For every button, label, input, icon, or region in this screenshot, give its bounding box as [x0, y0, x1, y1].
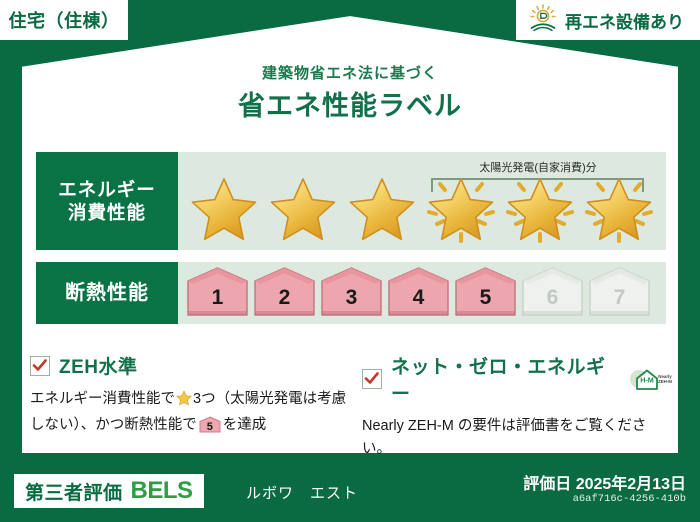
bels-en-label: BELS [131, 477, 193, 505]
bels-certification-badge: 第三者評価 BELS [14, 474, 204, 508]
zeh-desc-part1: エネルギー消費性能で [30, 391, 175, 407]
insulation-badge-inline: 5 [199, 416, 221, 433]
insulation-level-4: 4 [387, 266, 450, 318]
energy-performance-row: エネルギー 消費性能 太陽光発電(自家消費)分 [36, 152, 666, 250]
footer: 第三者評価 BELS ルボワ エスト 評価日 2025年2月13日 a6af71… [0, 460, 700, 522]
insulation-level-2: 2 [253, 266, 316, 318]
svg-text:H-M: H-M [640, 376, 654, 385]
checkbox-icon-netzero [362, 369, 382, 389]
checkbox-icon-zeh [30, 356, 50, 376]
insulation-level-value-4: 4 [387, 286, 450, 310]
energy-star-2 [263, 170, 342, 248]
zeh-m-logo-icon: H-M Nearly ZEH-M [628, 366, 674, 392]
zeh-standard-description: エネルギー消費性能で3つ（太陽光発電は考慮しない）、かつ断熱性能で5を達成 [30, 388, 350, 438]
solar-sun-icon [528, 4, 558, 37]
net-zero-energy-description: Nearly ZEH-M の要件は評価書をご覧ください。 [362, 415, 674, 462]
insulation-performance-body: 1234567 [178, 262, 666, 324]
net-zero-energy-title: ネット・ゼロ・エネルギー [391, 352, 613, 406]
insulation-performance-label: 断熱性能 [36, 262, 178, 324]
zeh-standard-block: ZEH水準 エネルギー消費性能で3つ（太陽光発電は考慮しない）、かつ断熱性能で5… [30, 352, 350, 438]
insulation-performance-row: 断熱性能 1234567 [36, 262, 666, 324]
energy-star-4 [421, 170, 500, 248]
energy-performance-label: エネルギー 消費性能 [36, 152, 178, 250]
insulation-level-3: 3 [320, 266, 383, 318]
insulation-label-text: 断熱性能 [65, 281, 149, 306]
insulation-level-value-7: 7 [588, 286, 651, 310]
svg-text:ZEH-M: ZEH-M [658, 379, 672, 384]
building-type-label: 住宅（住棟） [9, 7, 120, 33]
energy-star-3 [342, 170, 421, 248]
building-type-badge: 住宅（住棟） [0, 0, 128, 40]
insulation-level-5: 5 [454, 266, 517, 318]
zeh-standard-title: ZEH水準 [59, 352, 138, 379]
energy-star-5 [500, 170, 579, 248]
star-icon-inline [176, 390, 192, 414]
insulation-level-6: 6 [521, 266, 584, 318]
bels-jp-label: 第三者評価 [25, 478, 123, 505]
energy-star-1 [184, 170, 263, 248]
zeh-desc-part3: を達成 [223, 417, 267, 433]
insulation-level-7: 7 [588, 266, 651, 318]
renewable-equipment-badge: 再エネ設備あり [516, 0, 700, 40]
evaluation-date: 評価日 2025年2月13日 [523, 470, 686, 494]
renewable-badge-label: 再エネ設備あり [565, 8, 684, 33]
energy-star-rating [178, 170, 666, 248]
insulation-level-value-2: 2 [253, 286, 316, 310]
owner-name: ルボワ エスト [246, 482, 358, 503]
insulation-level-value-3: 3 [320, 286, 383, 310]
net-zero-energy-block: ネット・ゼロ・エネルギー H-M Nearly ZEH-M Nearly ZEH… [362, 352, 674, 462]
label-root: 住宅（住棟） 再エネ設備あり 建築物省エネ法に基づ [0, 0, 700, 522]
insulation-level-value-6: 6 [521, 286, 584, 310]
energy-star-6 [579, 170, 658, 248]
energy-label-line2: 消費性能 [68, 201, 146, 224]
insulation-level-value-5: 5 [454, 286, 517, 310]
energy-label-line1: エネルギー [58, 178, 156, 201]
insulation-badge-inline-value: 5 [199, 419, 221, 437]
insulation-level-value-1: 1 [186, 286, 249, 310]
energy-performance-body: 太陽光発電(自家消費)分 [178, 152, 666, 250]
zeh-standard-header: ZEH水準 [30, 352, 350, 379]
insulation-level-scale: 1234567 [186, 266, 651, 318]
insulation-level-1: 1 [186, 266, 249, 318]
label-subtitle: 建築物省エネ法に基づく [0, 62, 700, 83]
page-title: 省エネ性能ラベル [0, 84, 700, 123]
evaluation-id: a6af716c-4256-410b [573, 493, 686, 505]
net-zero-energy-header: ネット・ゼロ・エネルギー H-M Nearly ZEH-M [362, 352, 674, 406]
